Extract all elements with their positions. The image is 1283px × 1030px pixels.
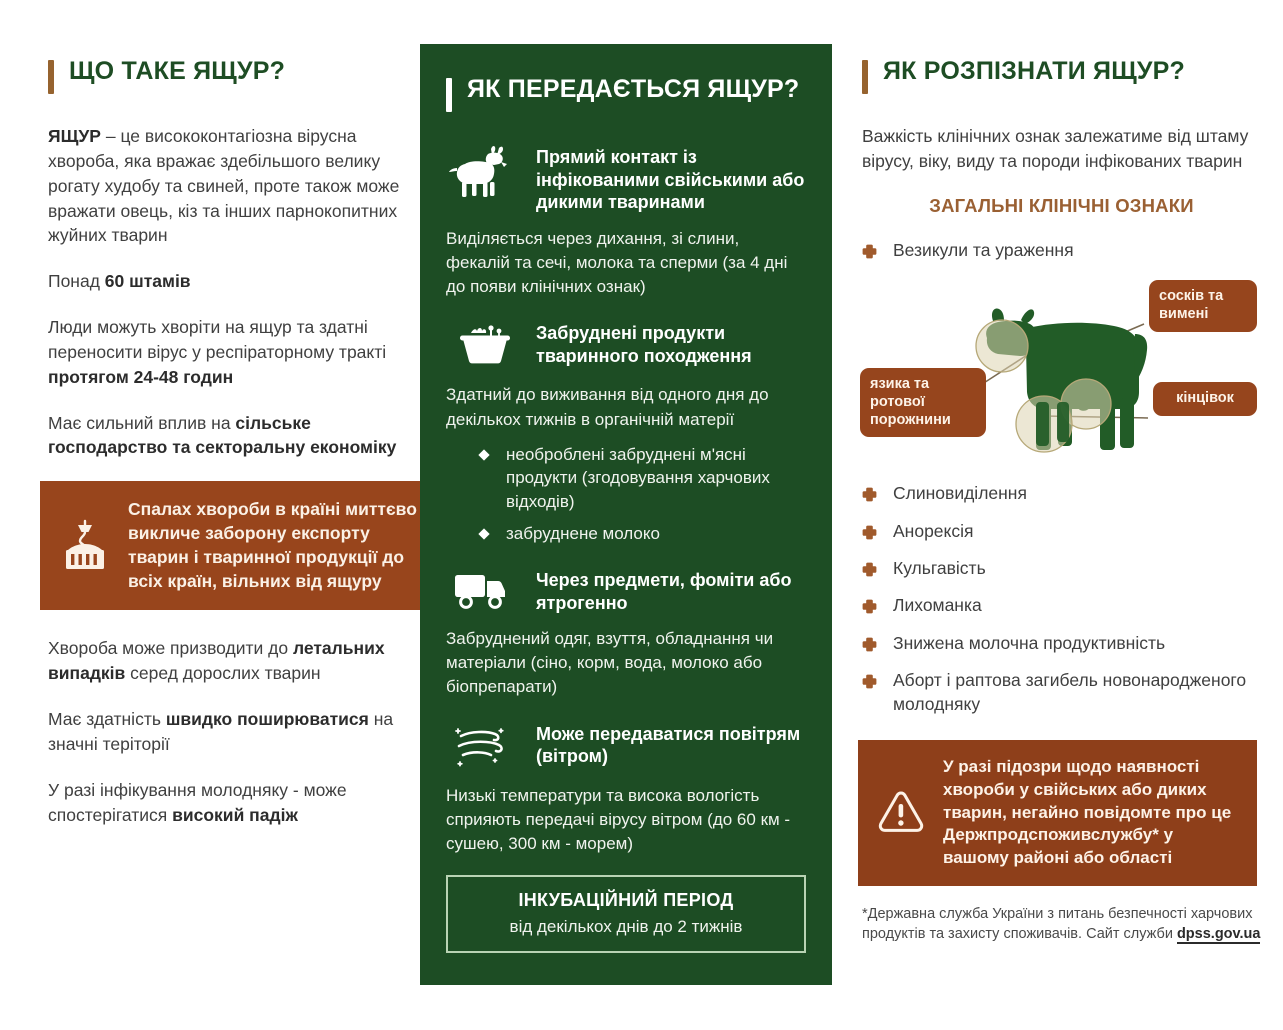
list-item-label: Аборт і раптова загибель новонародженого… [893, 670, 1246, 713]
list-item: Лихоманка [862, 594, 1261, 617]
spread-bold: швидко поширюватися [166, 709, 369, 729]
spread-prefix: Має здатність [48, 709, 166, 729]
block-header: Забруднені продукти тваринного походженн… [446, 318, 806, 370]
transmission-block: Прямий контакт із інфікованими свійським… [446, 142, 806, 299]
right-section-header: ЯК РОЗПІЗНАТИ ЯЩУР? [862, 58, 1261, 94]
block-header: Прямий контакт із інфікованими свійським… [446, 142, 806, 214]
list-item: Анорексія [862, 520, 1261, 543]
truck-icon [446, 565, 522, 613]
block-title: Може передаватися повітрям (вітром) [536, 719, 806, 768]
definition-text: – це висококонтагіозна вірусна хвороба, … [48, 126, 399, 245]
clinical-signs-subheading: ЗАГАЛЬНІ КЛІНІЧНІ ОЗНАКИ [862, 195, 1261, 217]
block-body: Здатний до виживання від одного дня до д… [446, 383, 806, 431]
transmission-panel: ЯК ПЕРЕДАЄТЬСЯ ЯЩУР? [420, 44, 832, 985]
left-paragraph-humans: Люди можуть хворіти на ящур та здатні пе… [48, 315, 400, 390]
left-column: ЩО ТАКЕ ЯЩУР? ЯЩУР – це висококонтагіозн… [0, 0, 420, 1030]
cross-bullet-icon [862, 523, 877, 546]
list-item-label: Анорексія [893, 521, 974, 541]
block-body: Низькі температури та висока вологість с… [446, 784, 806, 856]
block-header: Через предмети, фоміти або ятрогенно [446, 565, 806, 614]
cross-bullet-icon [862, 635, 877, 658]
label-teats-udder: сосків та вимені [1149, 280, 1257, 331]
cross-bullet-icon [862, 672, 877, 695]
block-body: Виділяється через дихання, зі слини, фек… [446, 227, 806, 299]
incubation-title: ІНКУБАЦІЙНИЙ ПЕРІОД [458, 890, 794, 911]
list-item: Аборт і раптова загибель новонародженого… [862, 669, 1261, 716]
right-intro-paragraph: Важкість клінічних ознак залежатиме від … [862, 124, 1261, 174]
strains-prefix: Понад [48, 271, 105, 291]
warning-triangle-icon [870, 790, 932, 836]
young-bold: високий падіж [172, 805, 298, 825]
first-symptom-list: Везикули та ураження [862, 239, 1261, 262]
accent-bar-icon [862, 60, 868, 94]
wind-icon [446, 719, 522, 771]
left-paragraph-definition: ЯЩУР – це висококонтагіозна вірусна хвор… [48, 124, 400, 248]
page-title-right: ЯК РОЗПІЗНАТИ ЯЩУР? [883, 58, 1185, 86]
goat-icon [446, 142, 522, 200]
block-body: Забруднений одяг, взуття, обладнання чи … [446, 627, 806, 699]
block-bullet-list: необроблені забруднені м'ясні продукти (… [446, 443, 806, 546]
export-ban-callout: Спалах хвороби в країні миттєво викличе … [40, 481, 440, 610]
transmission-block: Забруднені продукти тваринного походженн… [446, 318, 806, 545]
list-item-label: Везикули та ураження [893, 240, 1074, 260]
lethal-suffix: серед дорослих тварин [125, 663, 320, 683]
list-item: Слиновиділення [862, 482, 1261, 505]
label-limbs: кінцівок [1153, 382, 1257, 416]
lethal-prefix: Хвороба може призводити до [48, 638, 293, 658]
page-title-middle: ЯК ПЕРЕДАЄТЬСЯ ЯЩУР? [467, 76, 799, 104]
left-paragraph-spread: Має здатність швидко поширюватися на зна… [48, 707, 400, 757]
list-item: необроблені забруднені м'ясні продукти (… [480, 443, 806, 514]
accent-bar-icon [446, 78, 452, 112]
list-item: Знижена молочна продуктивність [862, 632, 1261, 655]
transmission-block: Може передаватися повітрям (вітром) Низь… [446, 719, 806, 856]
footnote: *Державна служба України з питань безпеч… [862, 904, 1261, 945]
left-paragraph-lethal: Хвороба може призводити до летальних вип… [48, 636, 400, 686]
list-item-label: Кульгавість [893, 558, 986, 578]
label-tongue-mouth: язика та ротової порожнини [860, 368, 986, 437]
middle-column: ЯК ПЕРЕДАЄТЬСЯ ЯЩУР? [420, 0, 840, 1030]
cross-bullet-icon [862, 560, 877, 583]
block-header: Може передаватися повітрям (вітром) [446, 719, 806, 771]
symptom-list: Слиновиділення Анорексія Кульгавість Лих… [862, 482, 1261, 716]
cross-bullet-icon [862, 242, 877, 265]
cross-bullet-icon [862, 485, 877, 508]
middle-section-header: ЯК ПЕРЕДАЄТЬСЯ ЯЩУР? [446, 76, 806, 112]
economy-prefix: Має сильний вплив на [48, 413, 235, 433]
cross-bullet-icon [862, 597, 877, 620]
infographic-page: ЩО ТАКЕ ЯЩУР? ЯЩУР – це висококонтагіозн… [0, 0, 1283, 1030]
shipping-container-crane-icon [54, 519, 116, 573]
list-item: забруднене молоко [480, 522, 806, 546]
incubation-subtitle: від декількох днів до 2 тижнів [458, 917, 794, 937]
dpss-link[interactable]: dpss.gov.ua [1177, 926, 1261, 944]
list-item-label: Слиновиділення [893, 483, 1027, 503]
report-warning-box: У разі підозри щодо наявності хвороби у … [858, 740, 1257, 886]
list-item: Кульгавість [862, 557, 1261, 580]
list-item: Везикули та ураження [862, 239, 1261, 262]
transmission-block: Через предмети, фоміти або ятрогенно Заб… [446, 565, 806, 700]
block-title: Через предмети, фоміти або ятрогенно [536, 565, 806, 614]
accent-bar-icon [48, 60, 54, 94]
report-warning-text: У разі підозри щодо наявності хвороби у … [943, 756, 1243, 870]
incubation-period-box: ІНКУБАЦІЙНИЙ ПЕРІОД від декількох днів д… [446, 875, 806, 953]
humans-duration: протягом 24-48 годин [48, 367, 233, 387]
block-title: Прямий контакт із інфікованими свійським… [536, 142, 806, 214]
strains-count: 60 штамів [105, 271, 191, 291]
food-basket-icon [446, 318, 522, 370]
humans-prefix: Люди можуть хворіти на ящур та здатні пе… [48, 317, 386, 362]
export-ban-text: Спалах хвороби в країні миттєво викличе … [128, 498, 424, 593]
left-paragraph-economy: Має сильний вплив на сільське господарст… [48, 411, 400, 461]
list-item-label: Знижена молочна продуктивність [893, 633, 1165, 653]
left-paragraph-strains: Понад 60 штамів [48, 269, 400, 294]
block-title: Забруднені продукти тваринного походженн… [536, 318, 806, 367]
list-item-label: Лихоманка [893, 595, 982, 615]
cow-diagram: сосків та вимені язика та ротової порожн… [858, 276, 1257, 466]
left-section-header: ЩО ТАКЕ ЯЩУР? [48, 58, 400, 94]
page-title-left: ЩО ТАКЕ ЯЩУР? [69, 58, 285, 86]
left-paragraph-young: У разі інфікування молодняку - може спос… [48, 778, 400, 828]
right-column: ЯК РОЗПІЗНАТИ ЯЩУР? Важкість клінічних о… [840, 0, 1283, 1030]
definition-term: ЯЩУР [48, 126, 101, 146]
